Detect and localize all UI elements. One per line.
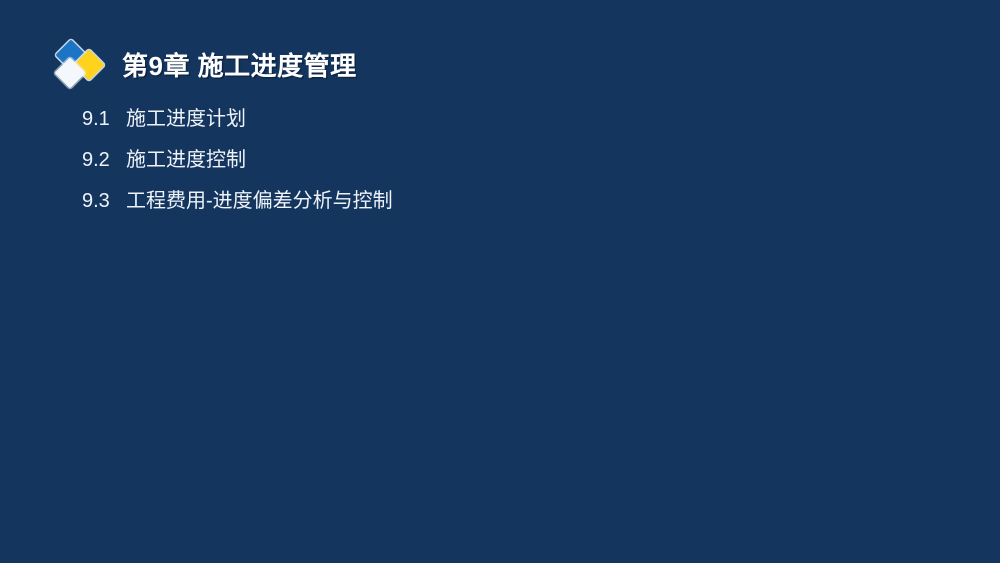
agenda-item-9-1[interactable]: 9.1 施工进度计划 bbox=[82, 106, 393, 147]
agenda-item-number: 9.2 bbox=[82, 147, 126, 173]
slide-header: 第9章 施工进度管理 bbox=[55, 38, 357, 94]
agenda-item-label: 施工进度控制 bbox=[126, 147, 246, 173]
slide-title: 第9章 施工进度管理 bbox=[122, 53, 357, 79]
agenda-item-label: 工程费用-进度偏差分析与控制 bbox=[126, 188, 393, 214]
agenda-list: 9.1 施工进度计划 9.2 施工进度控制 9.3 工程费用-进度偏差分析与控制 bbox=[82, 106, 393, 229]
agenda-item-label: 施工进度计划 bbox=[126, 106, 246, 132]
agenda-item-number: 9.1 bbox=[82, 106, 126, 132]
agenda-item-9-3[interactable]: 9.3 工程费用-进度偏差分析与控制 bbox=[82, 188, 393, 229]
agenda-item-9-2[interactable]: 9.2 施工进度控制 bbox=[82, 147, 393, 188]
three-diamonds-logo bbox=[55, 41, 109, 91]
presentation-slide: 第9章 施工进度管理 9.1 施工进度计划 9.2 施工进度控制 9.3 工程费… bbox=[0, 0, 1000, 563]
agenda-item-number: 9.3 bbox=[82, 188, 126, 214]
